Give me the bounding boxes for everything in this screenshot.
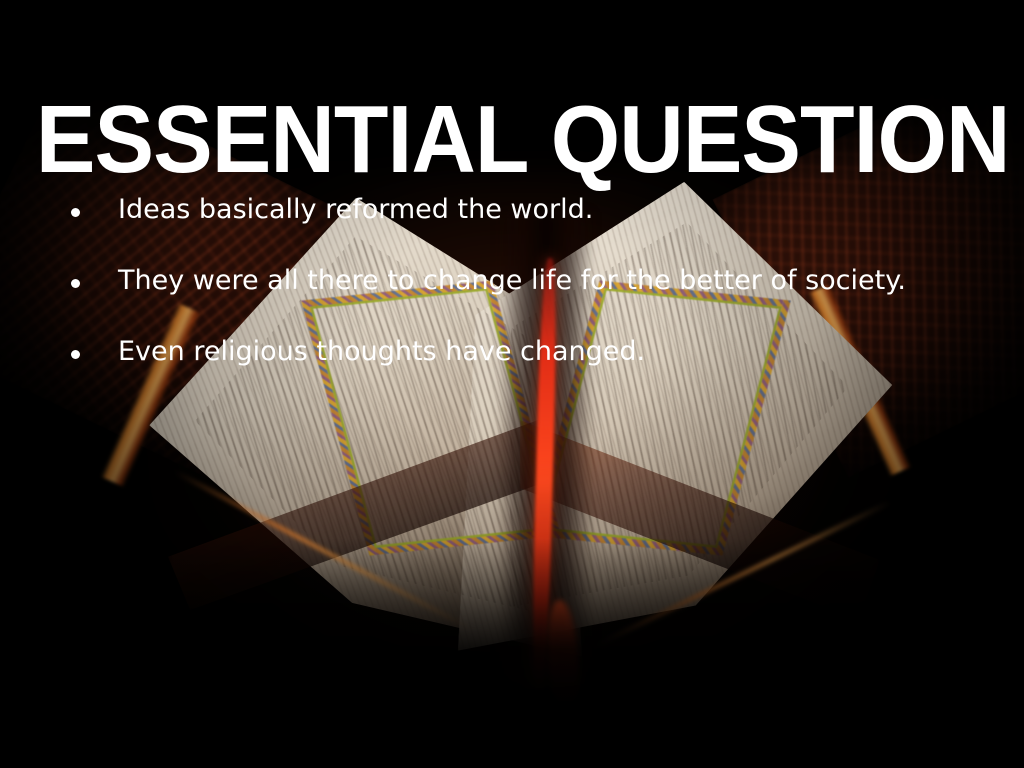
- bullet-dot-icon: [71, 350, 80, 359]
- slide-content: ESSENTIAL QUESTION Ideas basically refor…: [0, 0, 1024, 768]
- presentation-slide: ESSENTIAL QUESTION Ideas basically refor…: [0, 0, 1024, 768]
- list-item: They were all there to change life for t…: [62, 267, 1000, 294]
- bullet-text: They were all there to change life for t…: [118, 267, 906, 294]
- list-item: Even religious thoughts have changed.: [62, 338, 1000, 365]
- bullet-dot-icon: [71, 208, 80, 217]
- bullet-text: Ideas basically reformed the world.: [118, 196, 593, 223]
- bullet-dot-icon: [71, 279, 80, 288]
- list-item: Ideas basically reformed the world.: [62, 196, 1000, 223]
- bullet-list: Ideas basically reformed the world. They…: [62, 196, 1000, 409]
- slide-title: ESSENTIAL QUESTION: [36, 92, 988, 188]
- bullet-text: Even religious thoughts have changed.: [118, 338, 645, 365]
